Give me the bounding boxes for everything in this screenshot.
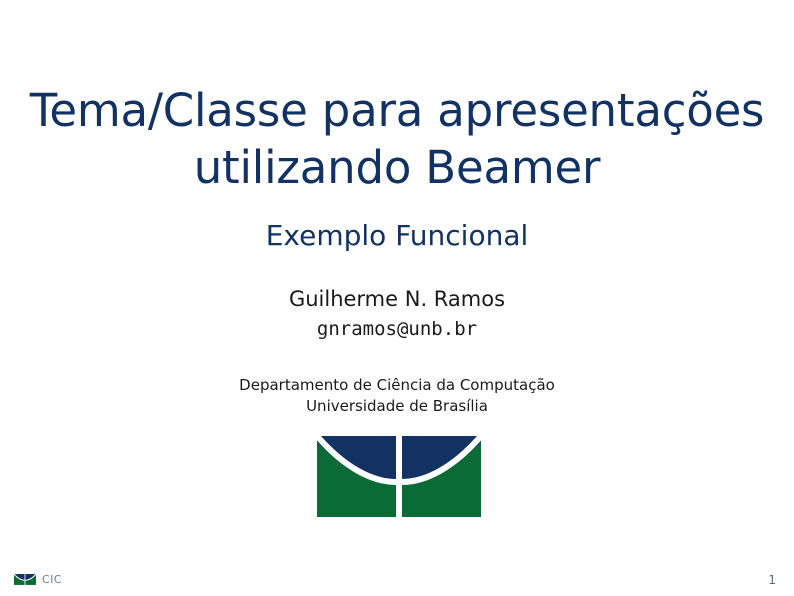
author-block: Guilherme N. Ramos gnramos@unb.br	[0, 285, 794, 341]
author-name: Guilherme N. Ramos	[0, 285, 794, 313]
institute-department: Departamento de Ciência da Computação	[0, 375, 794, 396]
unb-logo-center-gap	[396, 436, 402, 517]
unb-logo	[317, 436, 481, 517]
unb-logo-graphic	[317, 436, 481, 517]
page-subtitle: Exemplo Funcional	[0, 219, 794, 253]
page-number: 1	[768, 573, 776, 587]
author-email: gnramos@unb.br	[0, 317, 794, 341]
footer-brand: CIC	[14, 573, 62, 586]
institute-block: Departamento de Ciência da Computação Un…	[0, 375, 794, 417]
footer-label: CIC	[42, 573, 62, 586]
cic-logo-icon	[14, 573, 36, 586]
institute-university: Universidade de Brasília	[0, 396, 794, 417]
unb-logo-right-half	[402, 436, 481, 517]
page-title: Tema/Classe para apresentações utilizand…	[0, 82, 794, 196]
title-block: Tema/Classe para apresentações utilizand…	[0, 82, 794, 196]
unb-logo-left-half	[317, 436, 396, 517]
beamer-title-slide: Tema/Classe para apresentações utilizand…	[0, 0, 794, 596]
